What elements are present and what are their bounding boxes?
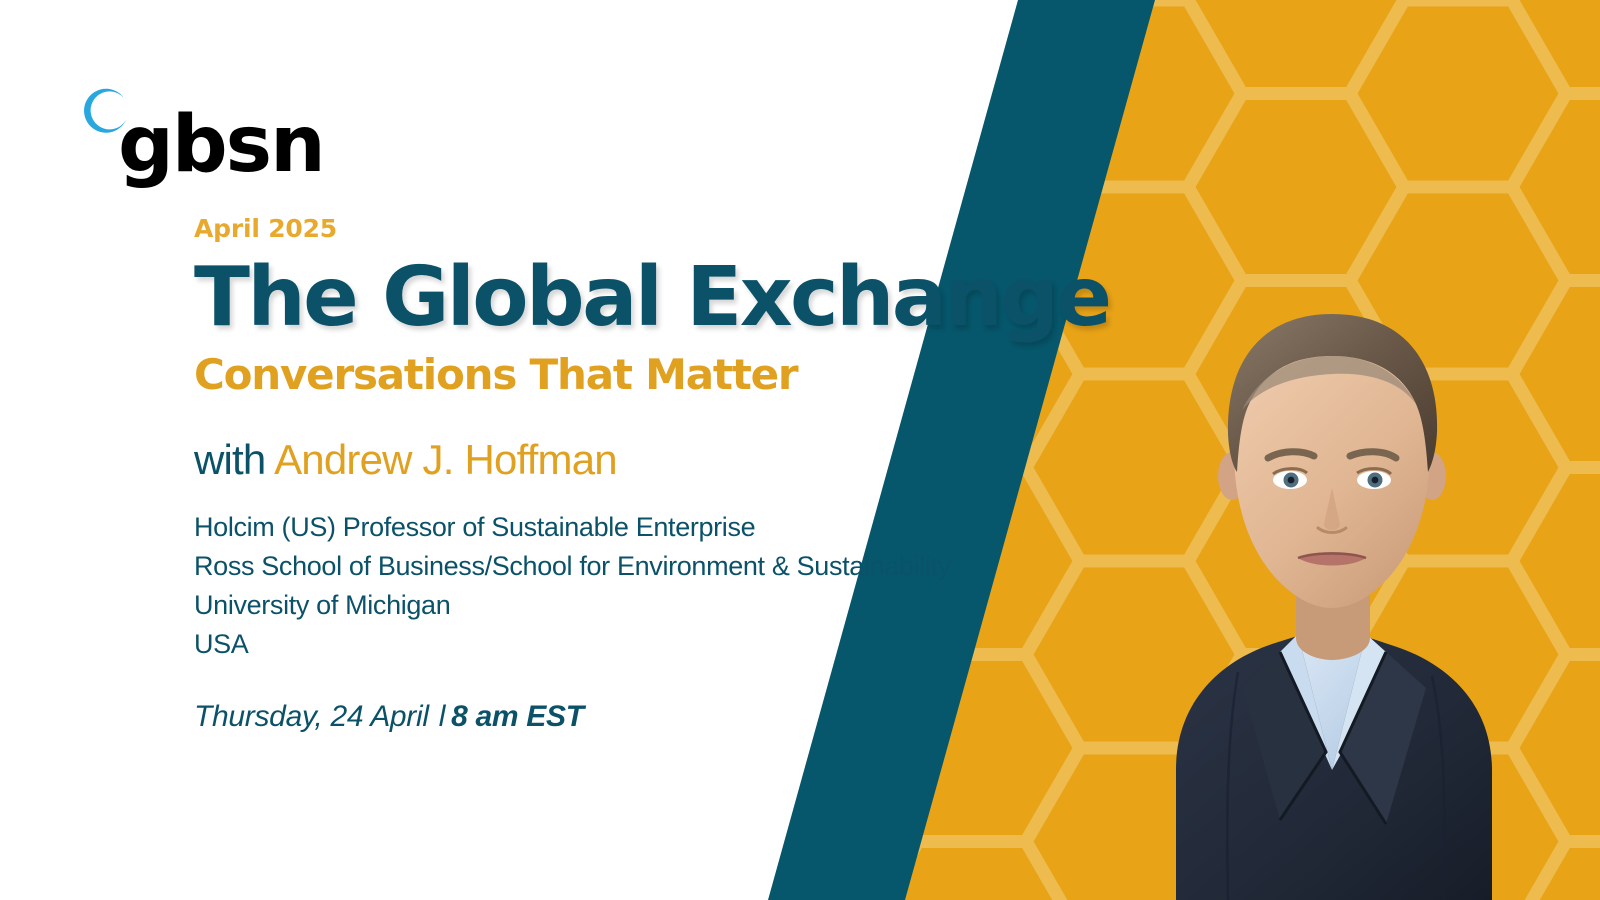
promo-content: April 2025 The Global Exchange Conversat… [194, 214, 1054, 736]
credential-line: Ross School of Business/School for Envir… [194, 547, 1054, 586]
credential-line: University of Michigan [194, 586, 1054, 625]
portrait-suit [1176, 622, 1492, 900]
guest-name: Andrew J. Hoffman [274, 436, 617, 483]
credential-line: Holcim (US) Professor of Sustainable Ent… [194, 508, 1054, 547]
portrait-head [1218, 314, 1446, 608]
event-datetime: Thursday, 24 Aprill8 am EST [194, 698, 1054, 736]
credential-line: USA [194, 625, 1054, 664]
guest-credentials: Holcim (US) Professor of Sustainable Ent… [194, 508, 1054, 664]
series-tagline: Conversations That Matter [194, 348, 1054, 402]
event-date: Thursday, 24 April [194, 700, 429, 733]
gbsn-logo: gbsn [80, 88, 380, 198]
promo-graphic: gbsn April 2025 The Global Exchange Conv… [0, 0, 1600, 900]
datetime-separator: l [429, 700, 451, 733]
guest-prefix-label: with [194, 436, 266, 483]
issue-date-eyebrow: April 2025 [194, 214, 1054, 244]
guest-line: with Andrew J. Hoffman [194, 434, 1054, 486]
guest-portrait [980, 300, 1600, 900]
event-time: 8 am EST [451, 700, 584, 733]
page-title: The Global Exchange [194, 252, 1054, 344]
gbsn-wordmark: gbsn [118, 106, 324, 184]
